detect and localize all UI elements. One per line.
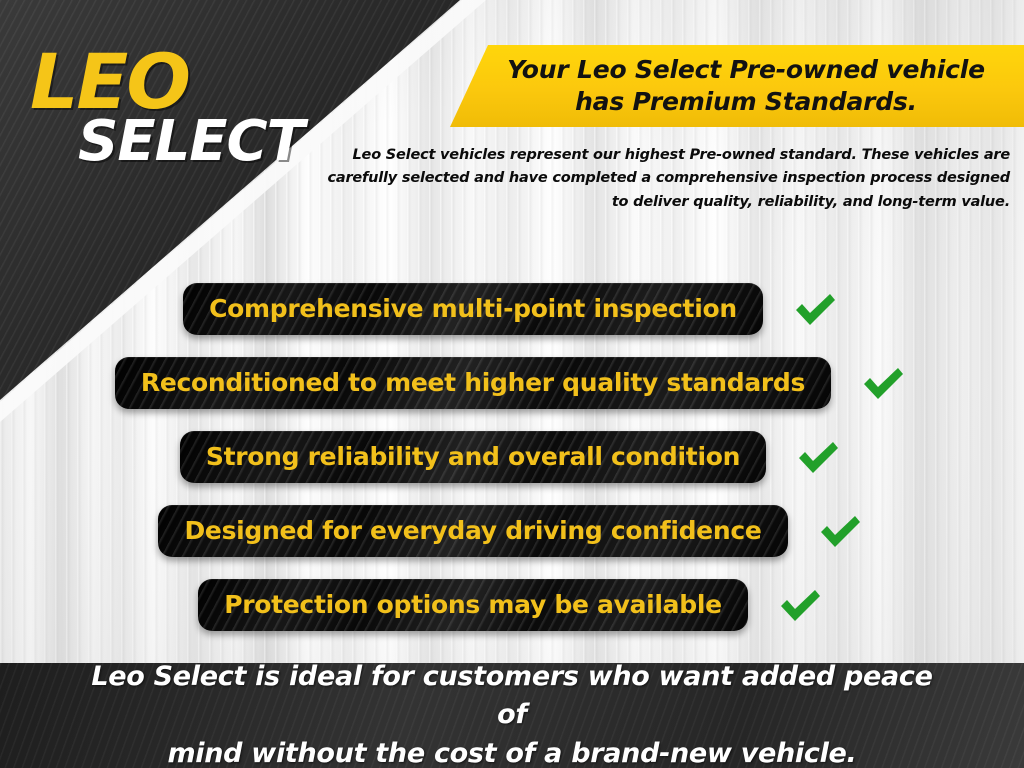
headline-banner: Your Leo Select Pre-owned vehicle has Pr… — [450, 45, 1024, 127]
feature-label: Designed for everyday driving confidence — [184, 516, 761, 545]
feature-pill[interactable]: Strong reliability and overall condition — [180, 431, 766, 483]
feature-list: Comprehensive multi-point inspection Rec… — [0, 272, 1024, 642]
feature-label: Reconditioned to meet higher quality sta… — [141, 368, 805, 397]
feature-label: Comprehensive multi-point inspection — [209, 294, 737, 323]
feature-label: Protection options may be available — [224, 590, 722, 619]
feature-pill[interactable]: Protection options may be available — [198, 579, 748, 631]
check-icon — [789, 283, 841, 335]
feature-row: Comprehensive multi-point inspection — [0, 272, 1024, 346]
feature-pill[interactable]: Designed for everyday driving confidence — [158, 505, 787, 557]
check-icon — [792, 431, 844, 483]
feature-pill[interactable]: Reconditioned to meet higher quality sta… — [115, 357, 831, 409]
logo-secondary-text: SELECT — [78, 114, 330, 170]
feature-row: Protection options may be available — [0, 568, 1024, 642]
headline-line-1: Your Leo Select Pre-owned vehicle — [507, 55, 985, 84]
leo-select-poster: LEO SELECT Your Leo Select Pre-owned veh… — [0, 0, 1024, 768]
check-icon — [857, 357, 909, 409]
footer-bar: Leo Select is ideal for customers who wa… — [0, 663, 1024, 768]
description-text: Leo Select vehicles represent our highes… — [310, 144, 1010, 214]
footer-text: Leo Select is ideal for customers who wa… — [82, 658, 942, 768]
headline-text: Your Leo Select Pre-owned vehicle has Pr… — [471, 54, 1003, 118]
check-icon — [774, 579, 826, 631]
headline-line-2: has Premium Standards. — [575, 87, 917, 116]
feature-row: Strong reliability and overall condition — [0, 420, 1024, 494]
feature-pill[interactable]: Comprehensive multi-point inspection — [183, 283, 763, 335]
feature-label: Strong reliability and overall condition — [206, 442, 740, 471]
check-icon — [814, 505, 866, 557]
feature-row: Designed for everyday driving confidence — [0, 494, 1024, 568]
footer-line-1: Leo Select is ideal for customers who wa… — [91, 661, 932, 730]
brand-logo: LEO SELECT — [30, 44, 330, 170]
footer-line-2: mind without the cost of a brand-new veh… — [167, 738, 856, 768]
feature-row: Reconditioned to meet higher quality sta… — [0, 346, 1024, 420]
